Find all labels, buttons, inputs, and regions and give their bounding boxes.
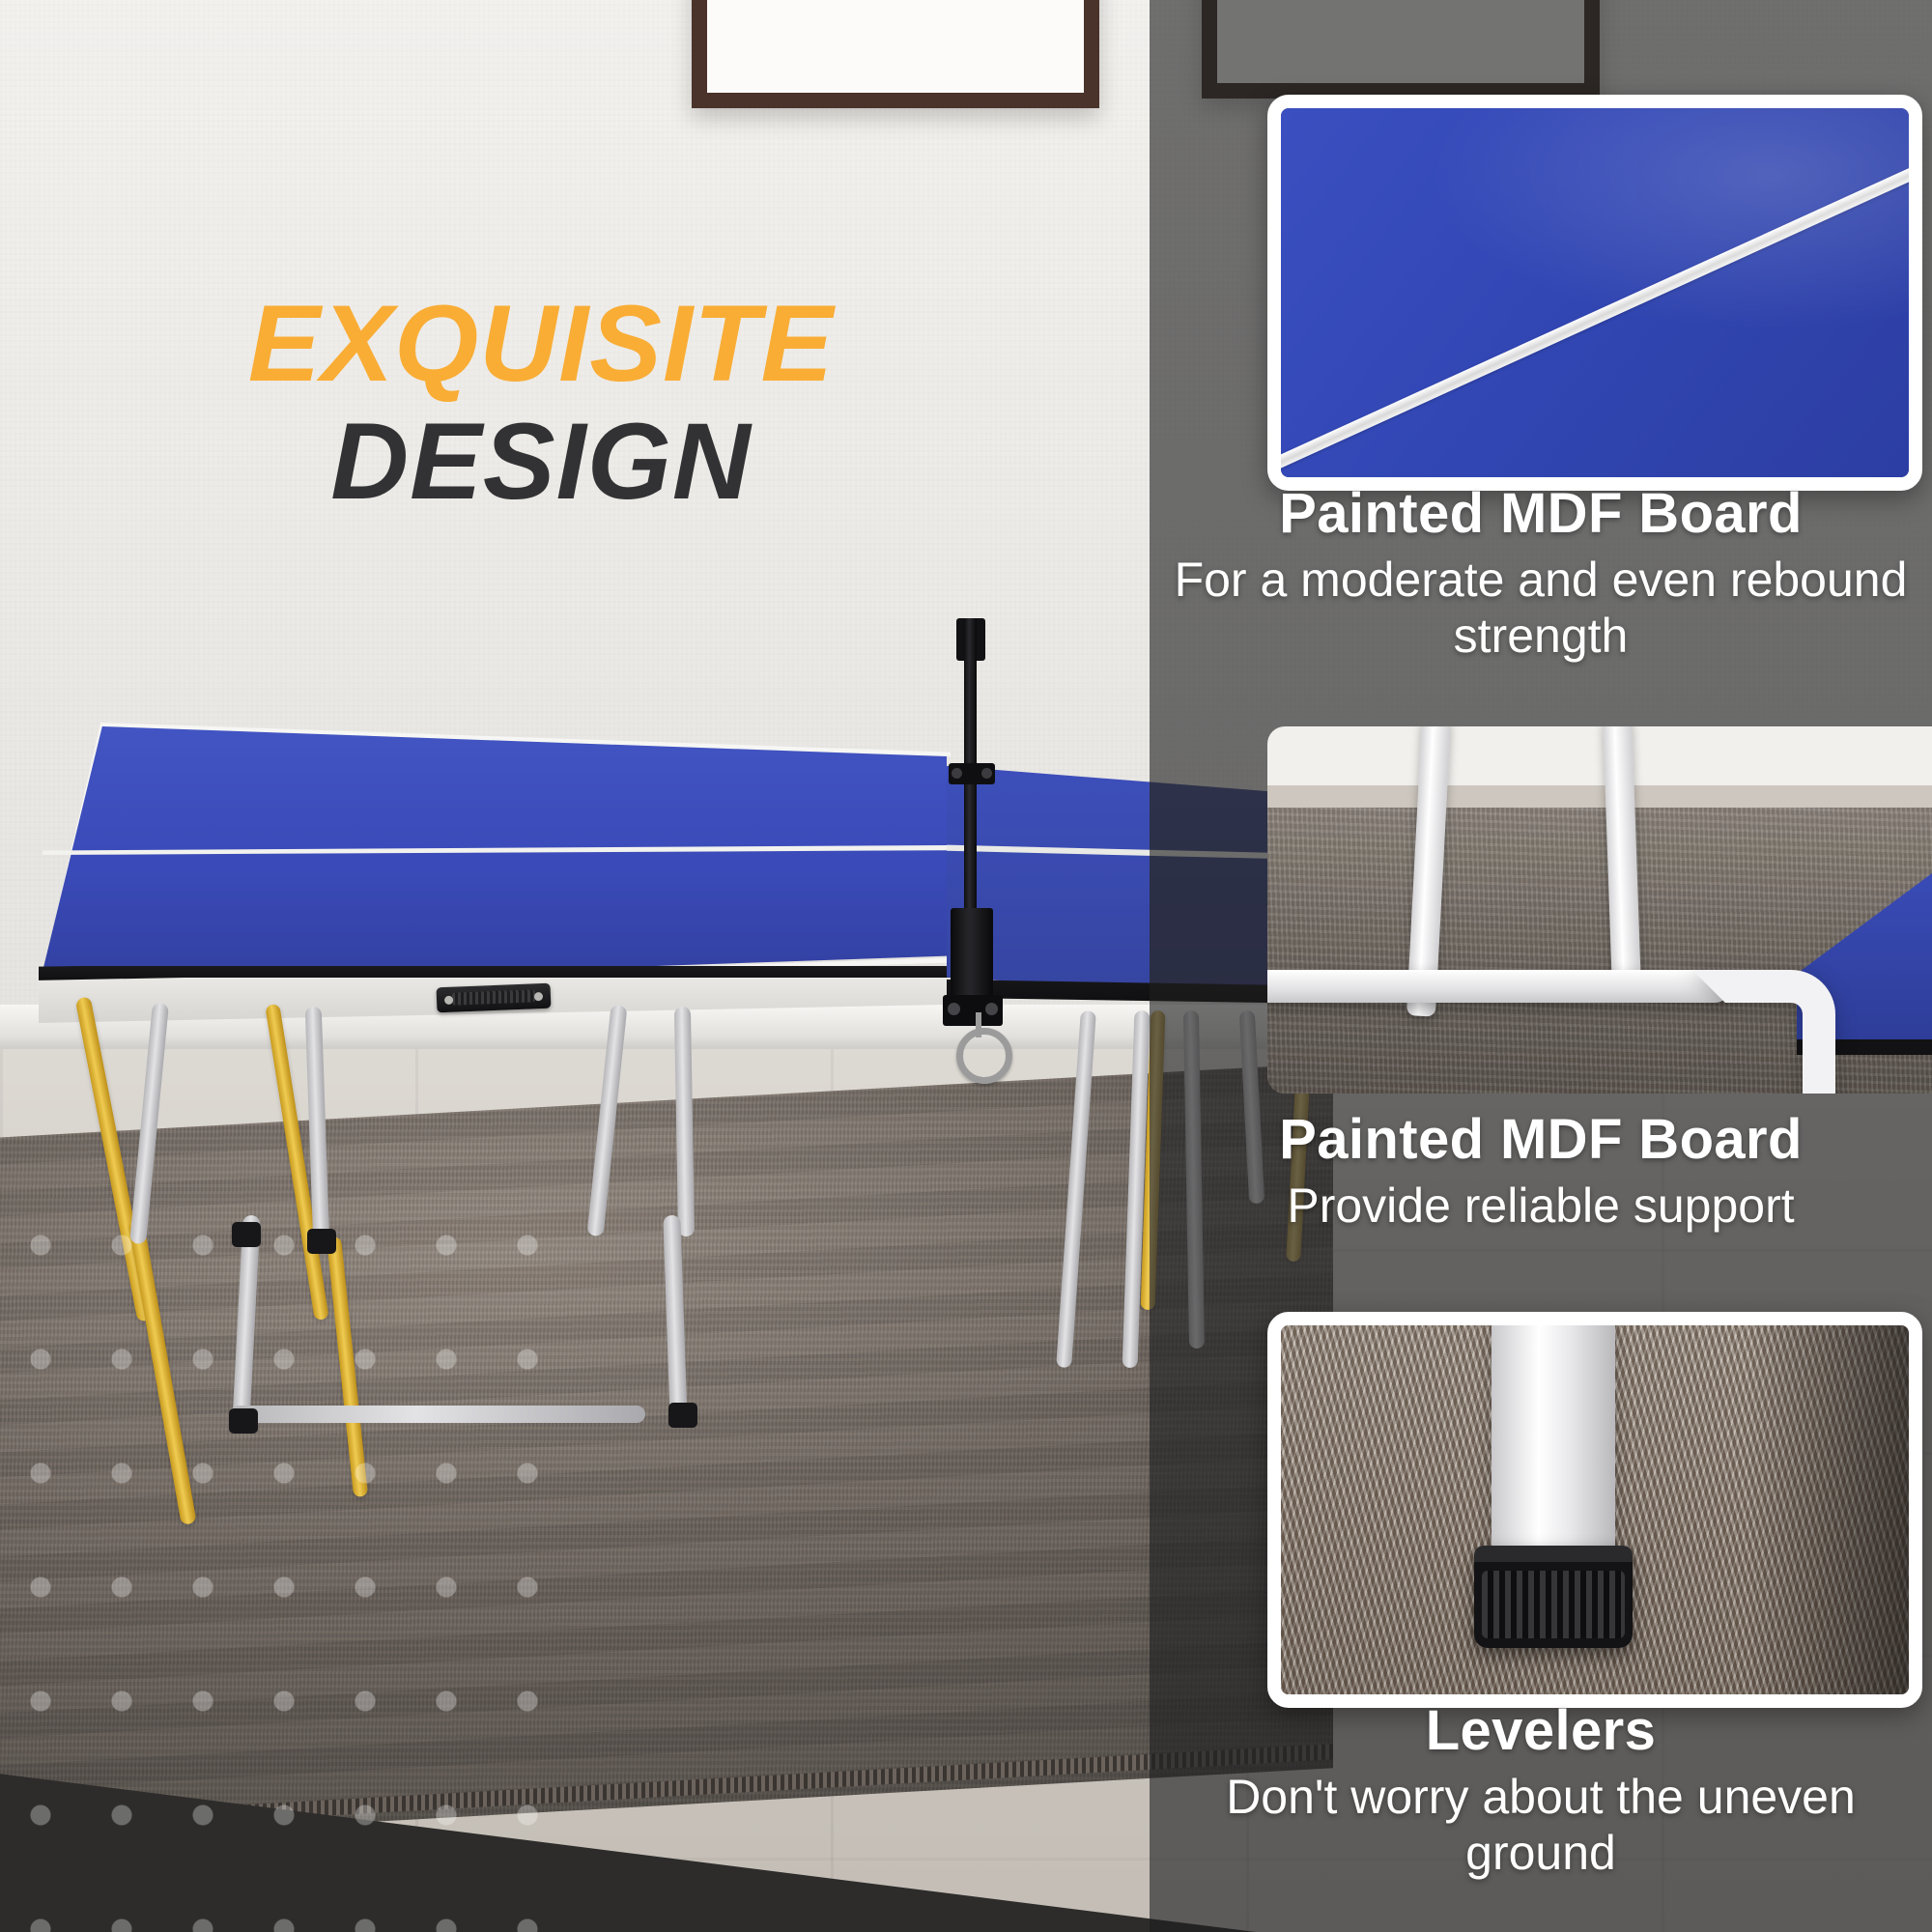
callout-title: Painted MDF Board (1150, 483, 1932, 546)
callout-title: Levelers (1150, 1700, 1932, 1763)
support-rod (128, 1218, 196, 1525)
product-feature-poster: EXQUISITE DESIGN Painted MDF Board For a… (0, 0, 1932, 1932)
handle-screw-right (534, 992, 543, 1001)
leg-cross-bar (230, 1406, 645, 1423)
leg-inset-bend (1692, 970, 1835, 1094)
table-top-left-surface (39, 726, 947, 987)
net-post-assembly (951, 618, 989, 1034)
net-tension-ring-icon (956, 1028, 1012, 1084)
leg-foot-cap (229, 1408, 258, 1434)
inset-leg-frame-closeup (1267, 726, 1932, 1094)
net-post-upper-clamp (949, 763, 995, 784)
inset-leveler-closeup (1267, 1312, 1922, 1708)
leveler-inset-shadow (1746, 1325, 1909, 1694)
table-leg (129, 1003, 169, 1244)
callout-subtitle: Don't worry about the uneven ground (1150, 1769, 1932, 1881)
table-leg (674, 1007, 695, 1236)
leveler-inset-leg-post (1492, 1318, 1615, 1553)
inset-board-closeup (1267, 95, 1922, 491)
callout-title: Painted MDF Board (1150, 1109, 1932, 1172)
leveler-foot (1474, 1546, 1633, 1648)
leg-foot-cap (307, 1229, 336, 1254)
headline-line-1: EXQUISITE (0, 290, 1082, 398)
net-post-lower-clamp (943, 995, 1003, 1026)
board-gloss-highlight (1281, 108, 1909, 477)
leg-foot-cap (668, 1403, 697, 1428)
headline-block: EXQUISITE DESIGN (0, 290, 1082, 516)
hero-table-tennis-table (0, 0, 1285, 1642)
table-leg (1056, 1010, 1096, 1368)
carry-handle (437, 983, 552, 1013)
headline-line-2: DESIGN (0, 408, 1082, 516)
leg-inset-cross-bar (1267, 970, 1731, 1003)
callout-painted-mdf-board-support: Painted MDF Board Provide reliable suppo… (1150, 1109, 1932, 1234)
handle-screw-left (444, 996, 453, 1005)
table-leg (587, 1005, 628, 1236)
callout-subtitle: For a moderate and even rebound strength (1150, 552, 1932, 664)
callout-subtitle: Provide reliable support (1150, 1178, 1932, 1234)
callout-painted-mdf-board-rebound: Painted MDF Board For a moderate and eve… (1150, 483, 1932, 664)
table-leg (663, 1215, 687, 1423)
callout-levelers: Levelers Don't worry about the uneven gr… (1150, 1700, 1932, 1881)
support-rod (327, 1236, 368, 1497)
leg-foot-cap (232, 1222, 261, 1247)
